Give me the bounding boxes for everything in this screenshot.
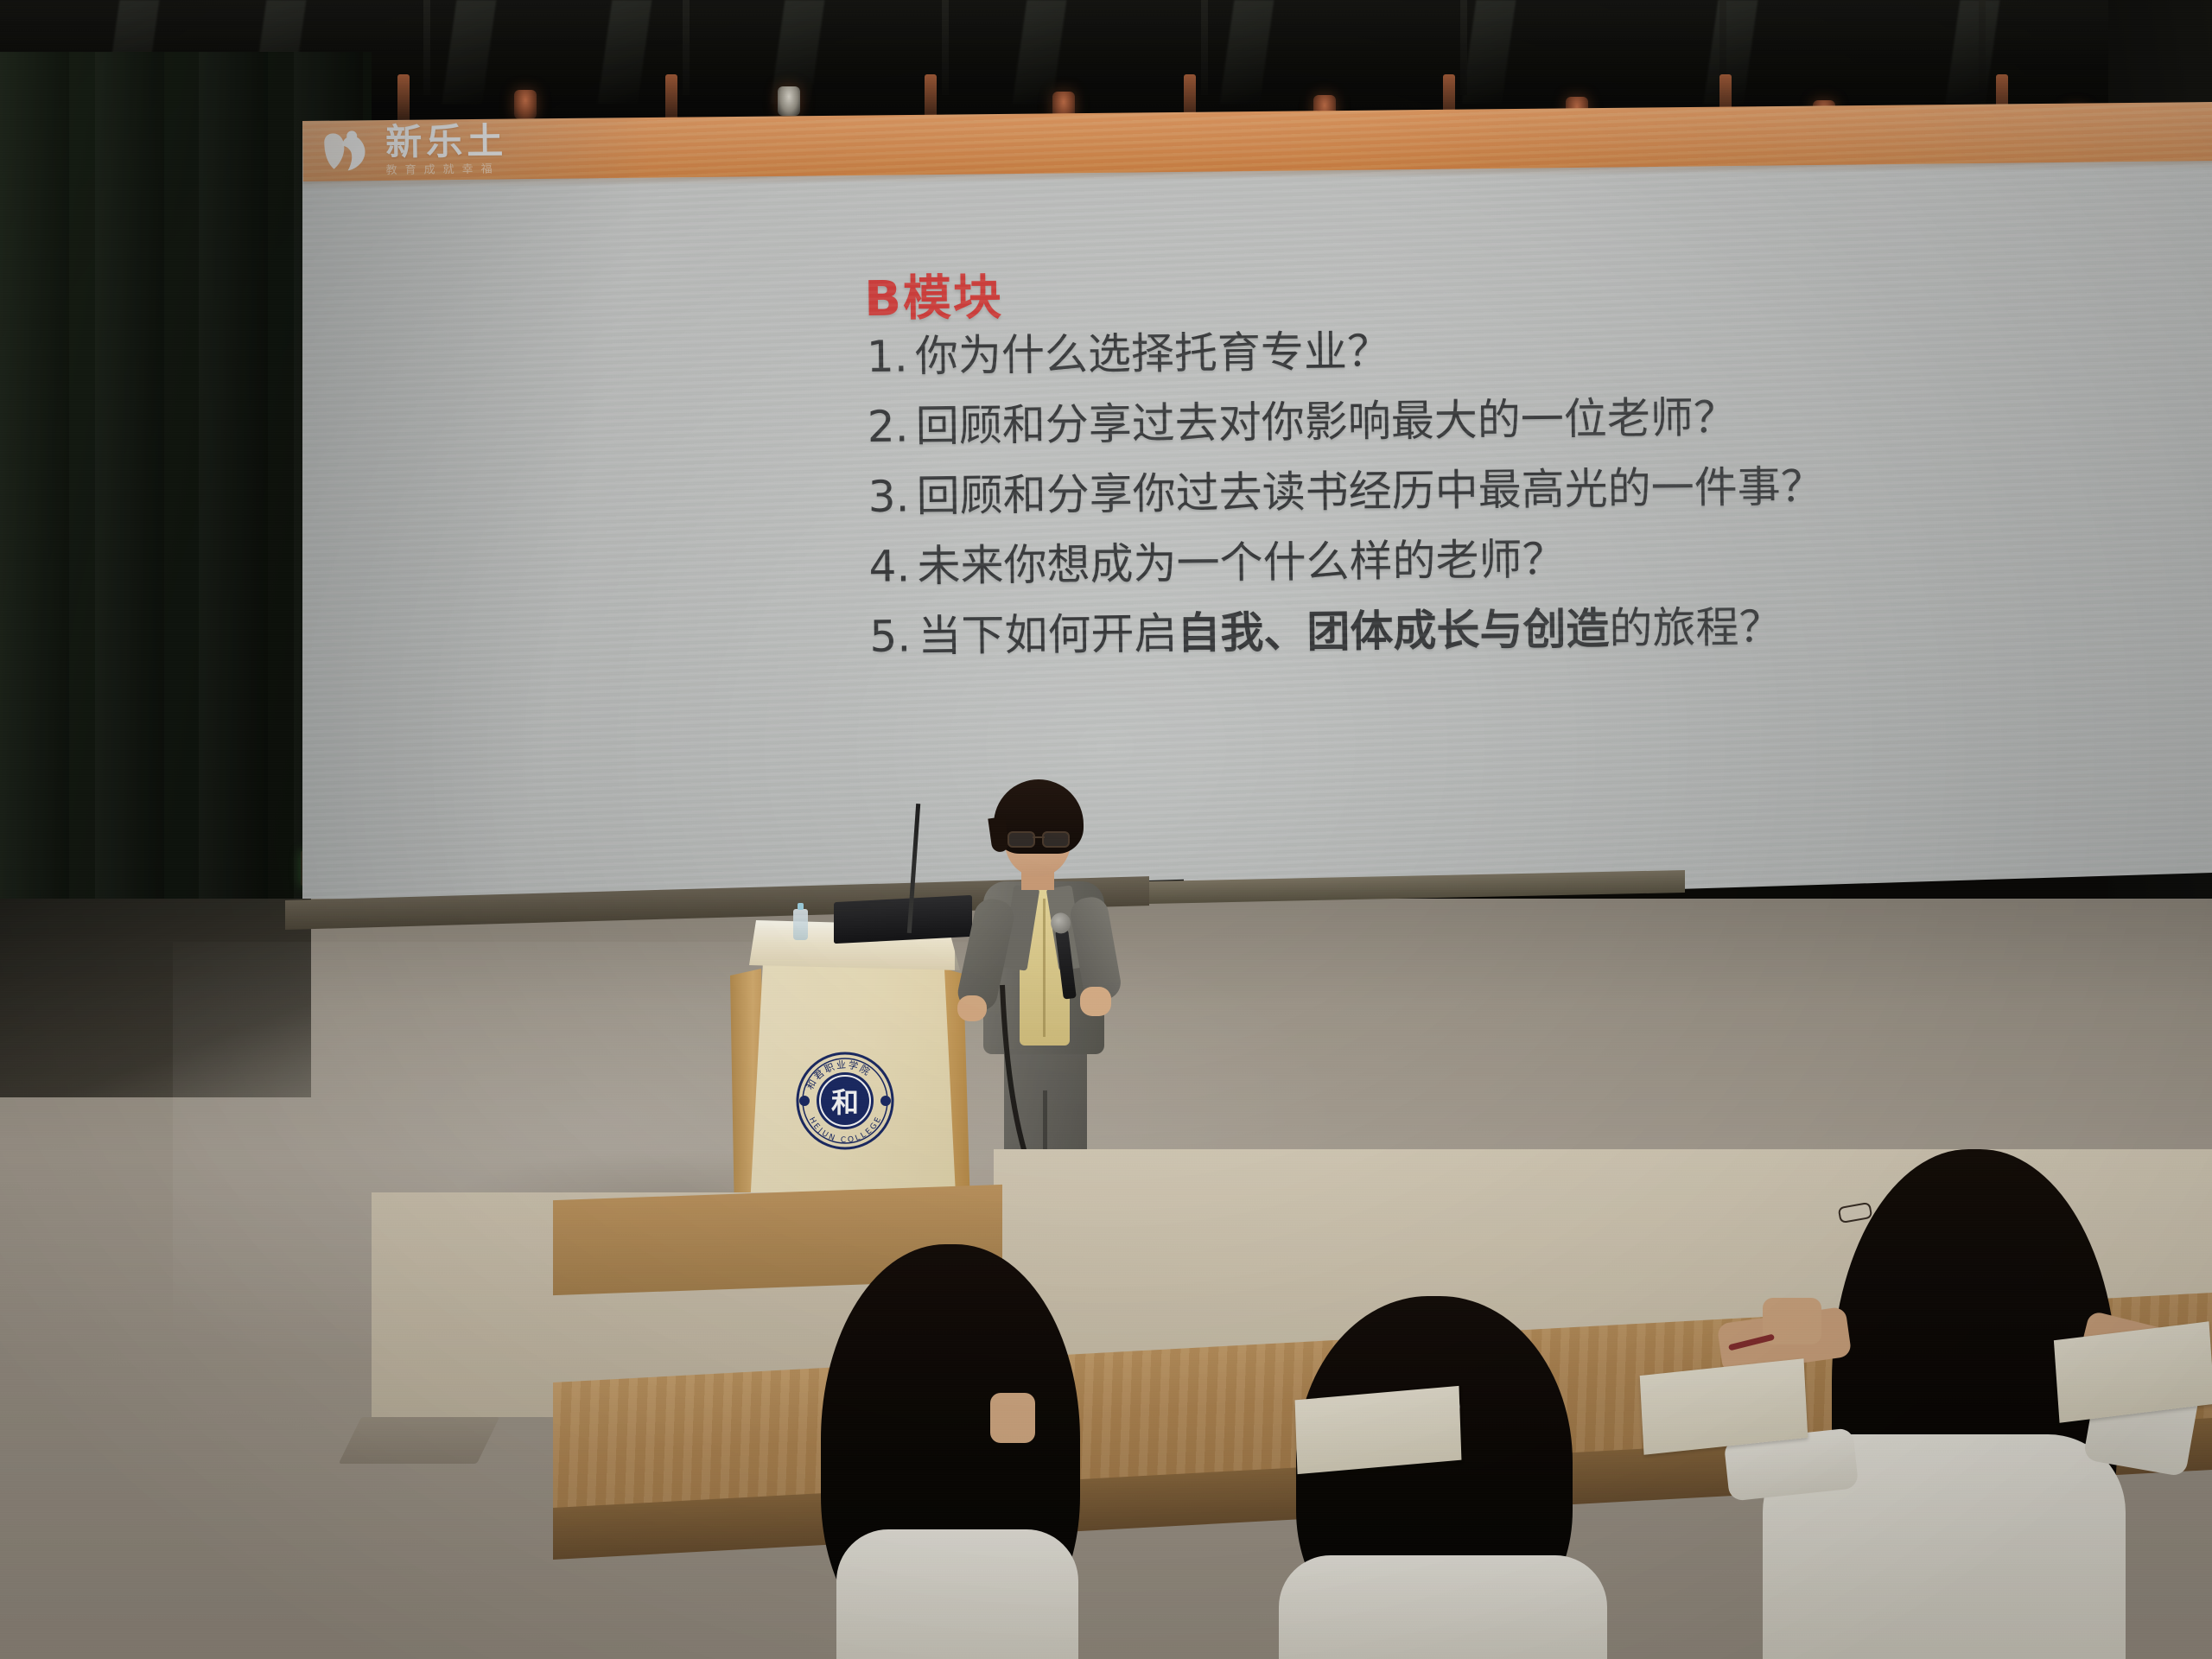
slide-title: B模块 bbox=[864, 258, 1004, 330]
question-number: 2. bbox=[868, 404, 917, 448]
floor-marking bbox=[339, 1417, 499, 1464]
presentation-photo-scene: 新乐土 教育成就幸福 B模块 1. 你为什么选择托育专业？ 2 bbox=[0, 0, 2212, 1659]
question-text: 当下如何开启自我、团体成长与创造的旅程？ bbox=[918, 606, 1782, 658]
college-seal-icon: 和 和君职业学院 HEJUN COLLEGE bbox=[794, 1050, 896, 1152]
question-number: 4. bbox=[868, 544, 918, 588]
svg-text:和: 和 bbox=[831, 1086, 859, 1119]
question-item: 3. 回顾和分享你过去读书经历中最高光的一件事？ bbox=[868, 461, 2181, 518]
question-number: 1. bbox=[867, 334, 916, 378]
glasses-icon bbox=[1007, 831, 1070, 845]
brand-subtitle: 教育成就幸福 bbox=[386, 163, 508, 176]
projection-screen: 新乐土 教育成就幸福 B模块 1. 你为什么选择托育专业？ 2 bbox=[285, 102, 2212, 931]
question-item: 1. 你为什么选择托育专业？ bbox=[867, 321, 2180, 378]
slide-content: 新乐土 教育成就幸福 B模块 1. 你为什么选择托育专业？ 2 bbox=[302, 100, 2212, 912]
hand bbox=[990, 1393, 1035, 1443]
hand bbox=[957, 995, 987, 1021]
question-text: 未来你想成为一个什么样的老师？ bbox=[917, 537, 1565, 588]
question-text: 你为什么选择托育专业？ bbox=[915, 329, 1391, 378]
brand-lockup: 新乐土 教育成就幸福 bbox=[321, 120, 508, 179]
question-item: 5. 当下如何开启自我、团体成长与创造的旅程？ bbox=[869, 601, 2183, 658]
question-item: 2. 回顾和分享过去对你影响最大的一位老师？ bbox=[868, 391, 2181, 448]
brand-name: 新乐土 bbox=[385, 123, 507, 161]
question-number: 3. bbox=[868, 474, 917, 518]
hand bbox=[1080, 987, 1111, 1016]
question-list: 1. 你为什么选择托育专业？ 2. 回顾和分享过去对你影响最大的一位老师？ 3.… bbox=[867, 321, 2183, 685]
glasses-icon bbox=[1838, 1202, 1873, 1224]
question-text: 回顾和分享你过去读书经历中最高光的一件事？ bbox=[916, 465, 1823, 518]
question-text: 回顾和分享过去对你影响最大的一位老师？ bbox=[916, 396, 1737, 448]
heart-person-logo-icon bbox=[321, 128, 374, 174]
question-number: 5. bbox=[869, 614, 918, 658]
water-bottle bbox=[793, 909, 808, 940]
list-item bbox=[1270, 1296, 1616, 1659]
question-item: 4. 未来你想成为一个什么样的老师？ bbox=[868, 531, 2182, 588]
list-item bbox=[804, 1244, 1115, 1659]
notebook bbox=[1295, 1386, 1462, 1474]
